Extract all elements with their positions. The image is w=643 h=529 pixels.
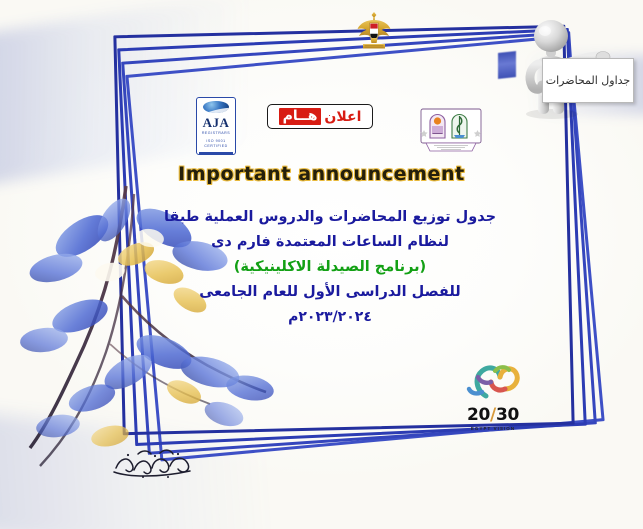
vision-number: 20/30	[462, 407, 524, 424]
aja-logo-tagline: ISO 9001 CERTIFIED	[197, 139, 235, 150]
announcement-line-3: (برنامج الصيدلة الاكلينيكية)	[150, 255, 510, 280]
aja-logo-subtitle: REGISTRARS	[202, 131, 230, 136]
announcement-line-2: لنظام الساعات المعتمدة فارم دى	[150, 230, 510, 255]
vision-number-right: 30	[496, 405, 519, 425]
callout-sign-text: جداول المحاضرات	[546, 75, 630, 86]
banner-word-alert: اعلان	[324, 110, 361, 124]
aja-registrars-logo: AJA REGISTRARS ISO 9001 CERTIFIED	[196, 97, 236, 155]
announcement-line-4: للفصل الدراسى الأول للعام الجامعى	[150, 280, 510, 305]
banner-word-important: هــام	[279, 108, 322, 125]
aja-logo-word: AJA	[203, 116, 230, 129]
lecture-schedules-callout[interactable]: جداول المحاضرات	[508, 12, 640, 120]
aja-logo-bar	[199, 152, 233, 154]
announcement-slide: AJA REGISTRARS ISO 9001 CERTIFIED اعلان …	[0, 0, 643, 529]
faculty-of-pharmacy-crest-icon	[420, 108, 482, 152]
globe-icon	[203, 101, 229, 113]
announcement-line-5: ٢٠٢٣/٢٠٢٤م	[150, 305, 510, 329]
callout-sign[interactable]: جداول المحاضرات	[542, 58, 634, 103]
vision-ribbon-icon	[462, 362, 524, 402]
vision-subtitle: EGYPT VISION	[462, 426, 524, 431]
announcement-text-block: جدول توزيع المحاضرات والدروس العملية طبق…	[150, 205, 510, 329]
eagle-of-saladin-icon	[356, 10, 392, 52]
announcement-line-1: جدول توزيع المحاضرات والدروس العملية طبق…	[150, 205, 510, 230]
calligraphy-ornament-icon	[108, 446, 198, 480]
egypt-vision-2030-logo: 20/30 EGYPT VISION	[462, 362, 524, 424]
important-announcement-banner: اعلان هــام	[267, 104, 373, 129]
vision-number-left: 20	[467, 405, 490, 425]
page-title-english: Important announcement	[0, 163, 643, 185]
